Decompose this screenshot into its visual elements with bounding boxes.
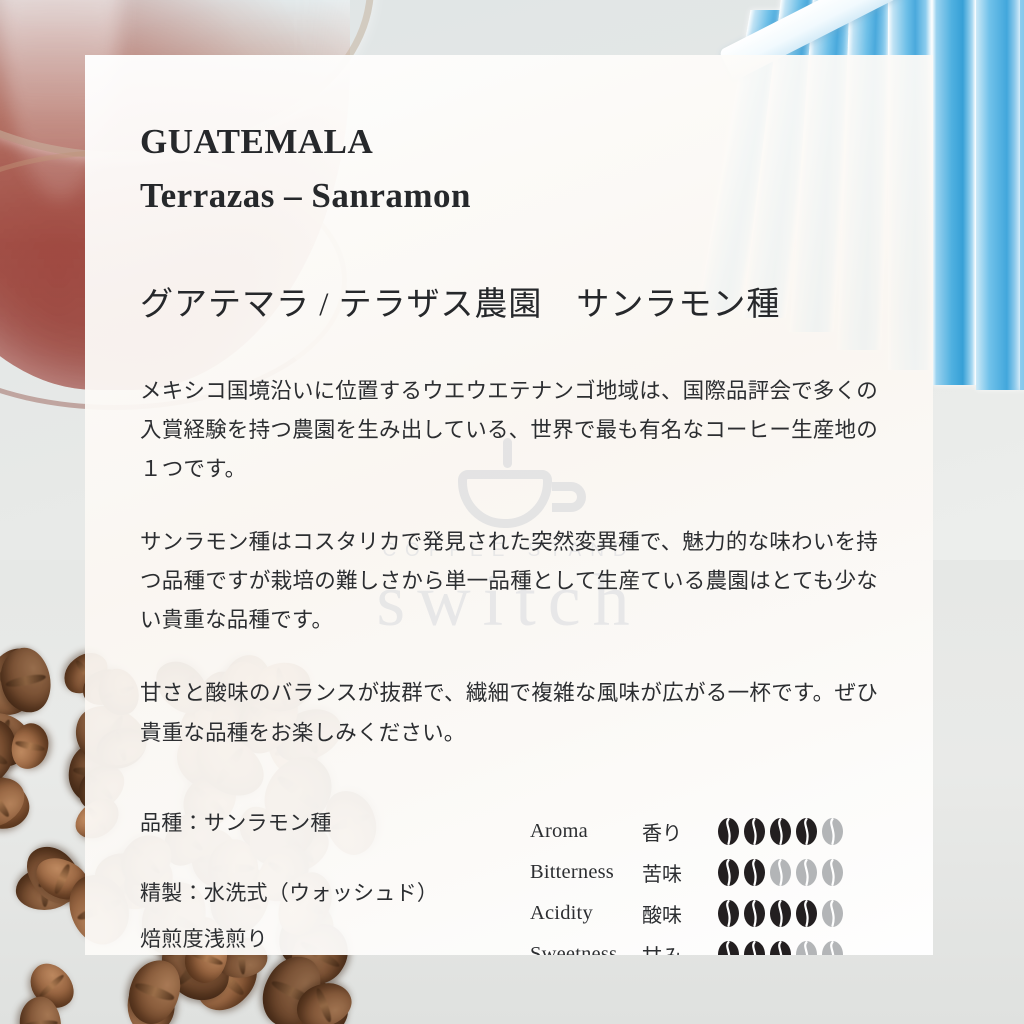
spec-list: 品種：サンラモン種 精製：水洗式（ウォッシュド） 焙煎度浅煎り <box>140 809 530 955</box>
coffee-bean-filled-icon <box>718 818 739 845</box>
description-paragraph-2: サンラモン種はコスタリカで発見された突然変異種で、魅力的な味わいを持つ品種ですが… <box>140 523 878 640</box>
coffee-bean-filled-icon <box>718 941 739 955</box>
coffee-bean-filled-icon <box>718 900 739 927</box>
coffee-bean-filled-icon <box>770 900 791 927</box>
rating-label-jp: 甘み <box>642 940 718 955</box>
coffee-bean-filled-icon <box>770 818 791 845</box>
coffee-bean-empty-icon <box>796 941 817 955</box>
coffee-bean-filled-icon <box>744 859 765 886</box>
coffee-bean-empty-icon <box>796 859 817 886</box>
coffee-bean-filled-icon <box>796 900 817 927</box>
coffee-bean-filled-icon <box>744 818 765 845</box>
coffee-bean-empty-icon <box>822 900 843 927</box>
description-paragraph-3: 甘さと酸味のバランスが抜群で、繊細で複雑な風味が広がる一杯です。ぜひ貴重な品種を… <box>140 674 878 752</box>
dripper-fin <box>976 0 1020 390</box>
coffee-bean-filled-icon <box>718 859 739 886</box>
details-section: 品種：サンラモン種 精製：水洗式（ウォッシュド） 焙煎度浅煎り Aroma香りB… <box>140 809 878 955</box>
rating-label-en: Sweetness <box>530 943 642 955</box>
dripper-fin <box>1020 0 1024 390</box>
rating-row: Acidity酸味 <box>530 893 878 934</box>
rating-label-en: Aroma <box>530 820 642 843</box>
rating-label-en: Bitterness <box>530 861 642 884</box>
coffee-bean-empty-icon <box>770 859 791 886</box>
dripper-fin <box>932 0 976 385</box>
product-card-stage: COFFEE STAND switch GUATEMALA Terrazas –… <box>0 0 1024 1024</box>
rating-row: Bitterness苦味 <box>530 852 878 893</box>
rating-label-en: Acidity <box>530 902 642 925</box>
rating-row: Sweetness甘み <box>530 934 878 955</box>
spec-roast: 焙煎度浅煎り <box>140 925 530 953</box>
subtitle-japanese: グアテマラ / テラザス農園 サンラモン種 <box>140 282 878 328</box>
page-title: GUATEMALA Terrazas – Sanramon <box>140 115 878 224</box>
description-paragraph-1: メキシコ国境沿いに位置するウエウエテナンゴ地域は、国際品評会で多くの入賞経験を持… <box>140 372 878 489</box>
rating-bean-scale <box>718 900 843 927</box>
coffee-bean-filled-icon <box>744 900 765 927</box>
rating-row: Aroma香り <box>530 811 878 852</box>
coffee-bean-empty-icon <box>822 818 843 845</box>
panel-content: GUATEMALA Terrazas – Sanramon グアテマラ / テラ… <box>140 115 878 955</box>
coffee-bean-empty-icon <box>822 941 843 955</box>
flavor-rating-table: Aroma香りBitterness苦味Acidity酸味Sweetness甘み <box>530 809 878 955</box>
title-origin: GUATEMALA <box>140 122 373 161</box>
coffee-bean-empty-icon <box>822 859 843 886</box>
rating-label-jp: 酸味 <box>642 899 718 928</box>
spec-variety: 品種：サンラモン種 <box>140 809 530 837</box>
title-farm-variety: Terrazas – Sanramon <box>140 169 878 223</box>
rating-bean-scale <box>718 859 843 886</box>
coffee-bean-filled-icon <box>796 818 817 845</box>
rating-bean-scale <box>718 818 843 845</box>
rating-label-jp: 苦味 <box>642 858 718 887</box>
rating-bean-scale <box>718 941 843 955</box>
coffee-bean-filled-icon <box>744 941 765 955</box>
coffee-bean-filled-icon <box>770 941 791 955</box>
rating-label-jp: 香り <box>642 817 718 846</box>
spec-process: 精製：水洗式（ウォッシュド） <box>140 879 530 907</box>
info-panel: COFFEE STAND switch GUATEMALA Terrazas –… <box>85 55 933 955</box>
